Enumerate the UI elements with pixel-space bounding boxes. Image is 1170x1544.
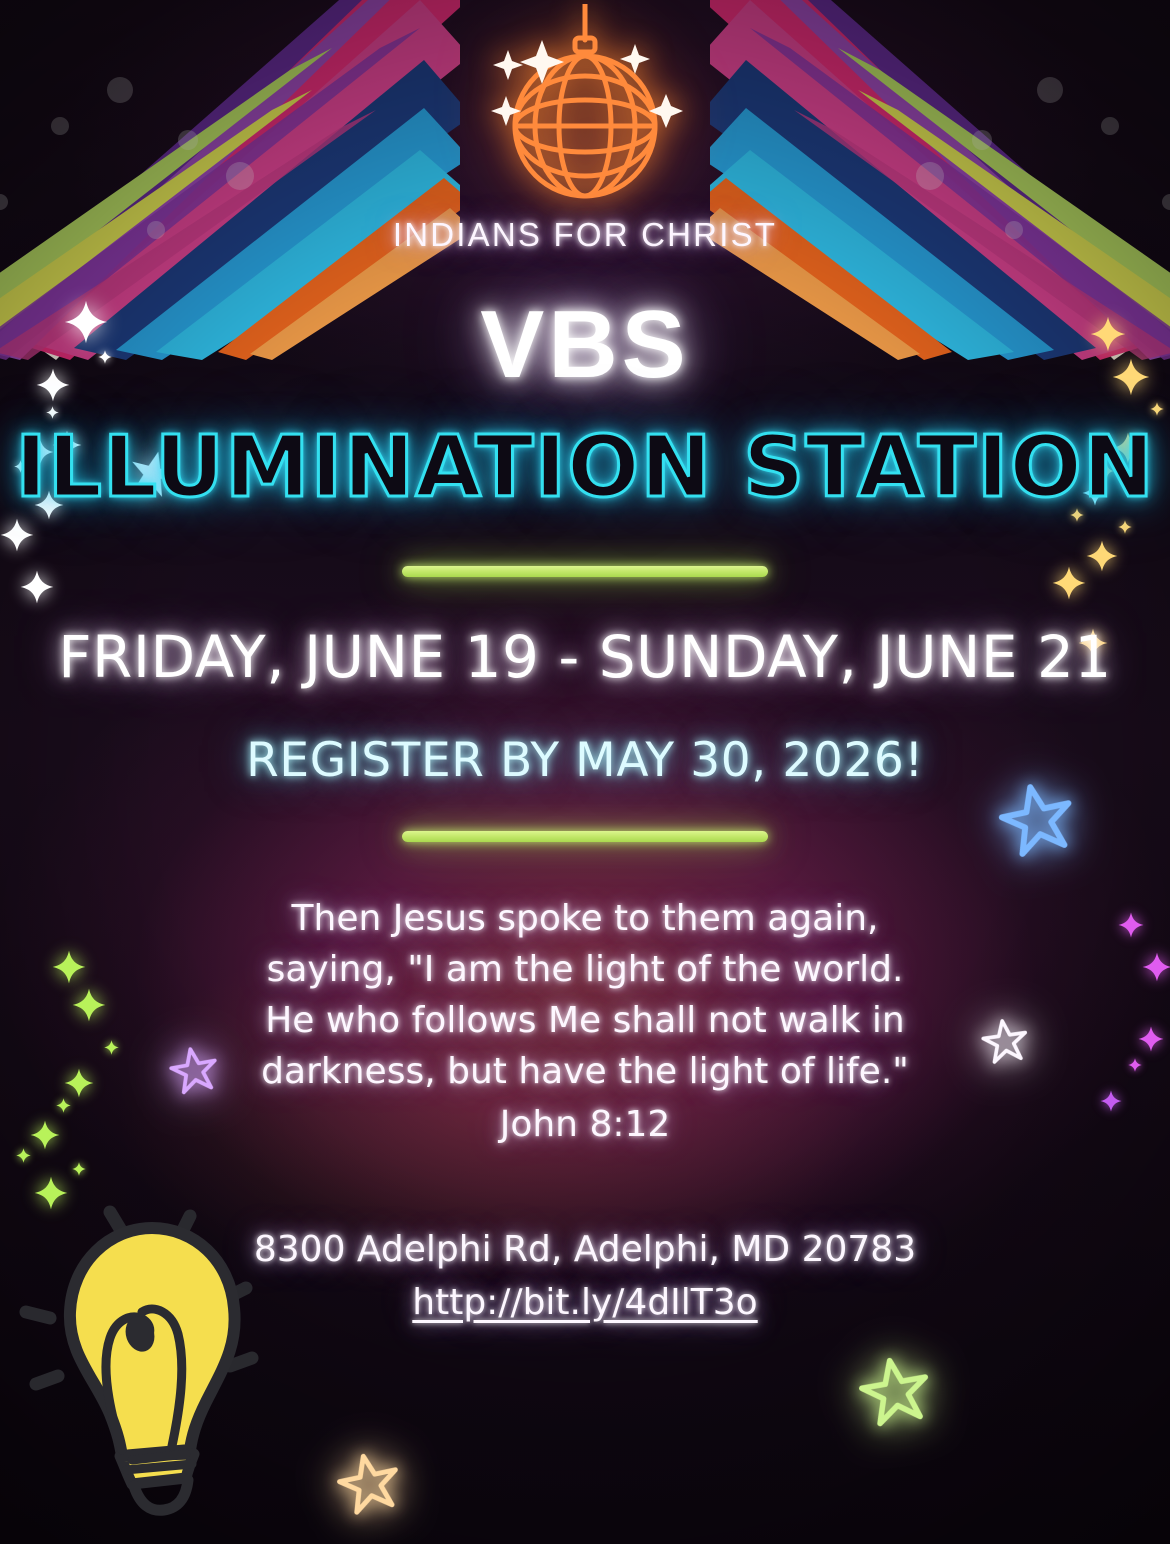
registration-deadline: REGISTER BY MAY 30, 2026! bbox=[0, 733, 1170, 788]
vbs-flyer-poster: INDIANS FOR CHRIST VBS ILLUMINATION STAT… bbox=[0, 0, 1170, 1544]
scripture-text: Then Jesus spoke to them again, saying, … bbox=[261, 898, 909, 1092]
event-acronym: VBS bbox=[0, 290, 1170, 400]
organization-name: INDIANS FOR CHRIST bbox=[0, 216, 1170, 254]
theme-title: ILLUMINATION STATION bbox=[0, 418, 1170, 517]
scripture-block: Then Jesus spoke to them again, saying, … bbox=[245, 893, 925, 1150]
scripture-reference: John 8:12 bbox=[245, 1099, 925, 1150]
divider-bottom bbox=[402, 831, 768, 842]
event-dates: FRIDAY, JUNE 19 - SUNDAY, JUNE 21 bbox=[0, 623, 1170, 691]
divider-top bbox=[402, 566, 768, 577]
poster-text-content: INDIANS FOR CHRIST VBS ILLUMINATION STAT… bbox=[0, 0, 1170, 1544]
venue-address: 8300 Adelphi Rd, Adelphi, MD 20783 bbox=[0, 1229, 1170, 1270]
registration-link[interactable]: http://bit.ly/4dIlT3o bbox=[0, 1282, 1170, 1323]
